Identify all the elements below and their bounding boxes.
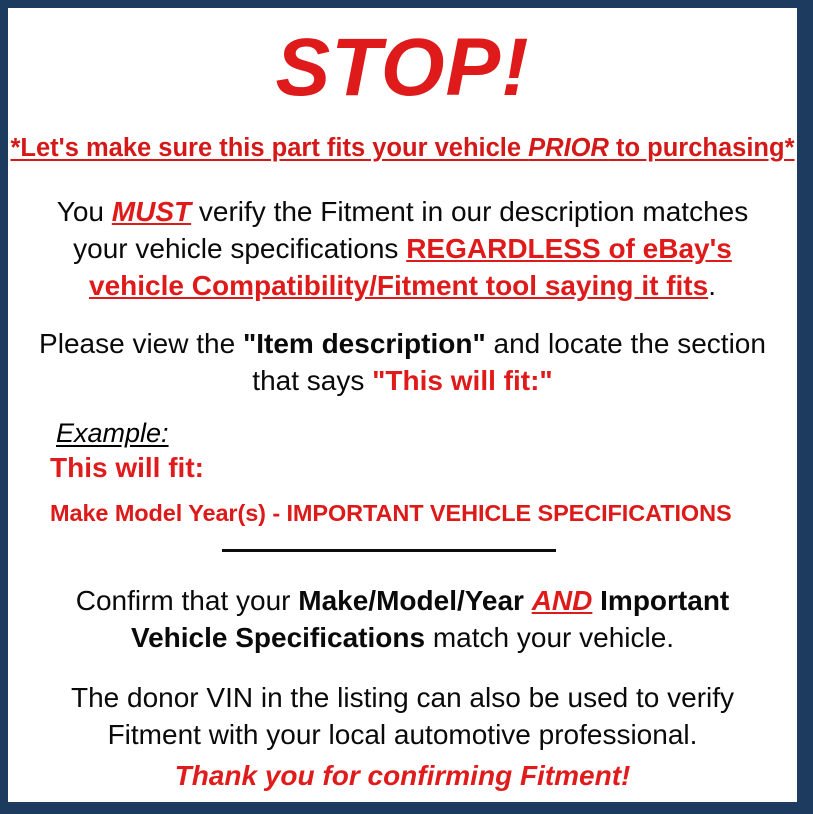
subtitle-text-before: *Let's make sure this part fits your veh… [10,134,528,162]
confirm-paragraph: Confirm that your Make/Model/Year AND Im… [26,583,779,657]
and-emphasis: AND [532,585,593,616]
must-verify-paragraph: You MUST verify the Fitment in our descr… [26,194,779,305]
example-spec-line: Make Model Year(s) - IMPORTANT VEHICLE S… [50,500,732,527]
section-divider [222,549,556,552]
subtitle-prior-emphasis: PRIOR [528,134,609,162]
donor-vin-paragraph: The donor VIN in the listing can also be… [26,680,779,754]
confirm-space-2 [592,585,600,616]
closing-thank-you: Thank you for confirming Fitment! [8,760,797,793]
item-description-paragraph: Please view the "Item description" and l… [26,326,779,400]
must-text-3: . [708,270,716,301]
confirm-space-1 [524,585,532,616]
fitment-notice-banner: STOP! *Let's make sure this part fits yo… [0,0,813,814]
notice-panel: STOP! *Let's make sure this part fits yo… [8,8,797,802]
must-text-1: You [57,196,112,227]
make-model-year-emphasis: Make/Model/Year [298,585,524,616]
subtitle-line: *Let's make sure this part fits your veh… [8,134,797,164]
this-will-fit-quote: "This will fit:" [372,365,553,396]
example-fit-heading: This will fit: [50,452,204,484]
desc-text-1: Please view the [39,328,243,359]
subtitle-text-after: to purchasing* [609,134,795,162]
example-label: Example: [56,418,169,449]
confirm-text-2: match your vehicle. [425,622,674,653]
item-description-emphasis: "Item description" [243,328,486,359]
confirm-text-1: Confirm that your [76,585,299,616]
must-emphasis: MUST [112,196,191,227]
stop-headline: STOP! [8,20,797,116]
